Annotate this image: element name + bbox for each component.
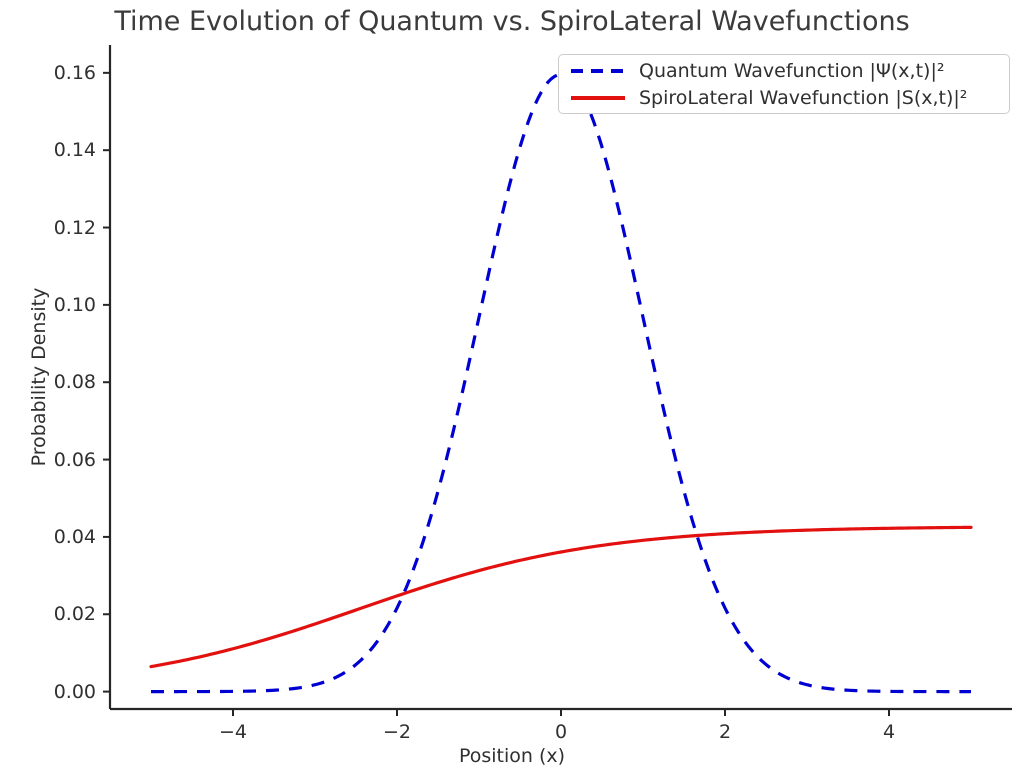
y-tick-label: 0.10 [12,294,96,316]
y-tick-label: 0.06 [12,449,96,471]
series-line-quantum [151,74,971,691]
x-tick-label: −2 [367,720,427,744]
legend-label-quantum: Quantum Wavefunction |Ψ(x,t)|² [639,60,944,82]
y-tick-label: 0.12 [12,217,96,239]
legend-label-spirolateral: SpiroLateral Wavefunction |S(x,t)|² [639,87,967,109]
y-tick-label: 0.08 [12,371,96,393]
x-tick-label: 4 [859,720,919,744]
x-axis-label: Position (x) [0,745,1024,767]
legend-entry-quantum[interactable]: Quantum Wavefunction |Ψ(x,t)|² [569,58,944,84]
y-tick-label: 0.04 [12,526,96,548]
x-tick-label: −4 [203,720,263,744]
x-tick-label: 0 [531,720,591,744]
legend-swatch-quantum-dashed-line [569,61,627,81]
chart-figure: Time Evolution of Quantum vs. SpiroLater… [0,0,1024,781]
y-tick-label: 0.02 [12,603,96,625]
y-tick-label: 0.14 [12,139,96,161]
chart-legend[interactable]: Quantum Wavefunction |Ψ(x,t)|² SpiroLate… [558,54,1010,114]
y-tick-label: 0.16 [12,62,96,84]
y-axis-label: Probability Density [26,45,52,709]
legend-swatch-spirolateral-solid-line [569,88,627,108]
y-tick-label: 0.00 [12,681,96,703]
x-tick-label: 2 [695,720,755,744]
series-line-spirolateral [151,527,971,666]
legend-entry-spirolateral[interactable]: SpiroLateral Wavefunction |S(x,t)|² [569,85,967,111]
plot-canvas [0,0,1024,781]
